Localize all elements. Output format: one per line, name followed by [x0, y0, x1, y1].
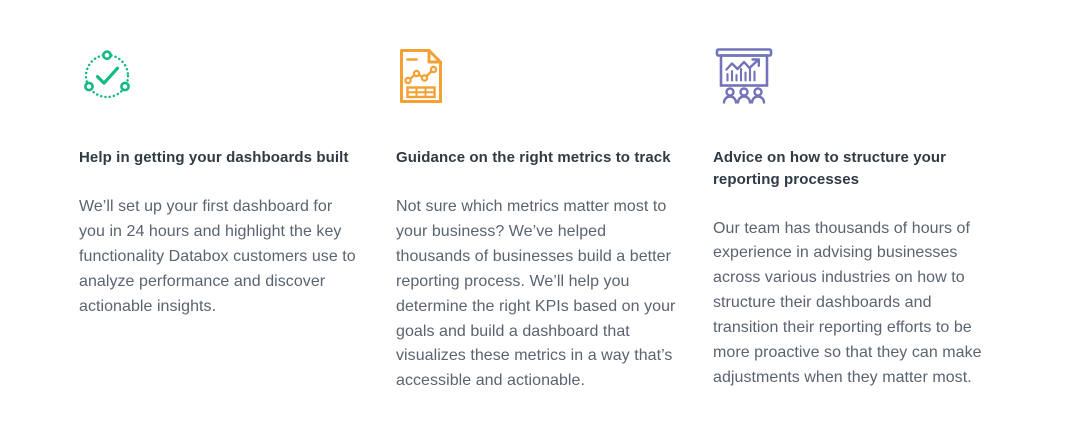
- feature-column-metrics-guidance: Guidance on the right metrics to track N…: [396, 45, 676, 394]
- check-circle-dotted-icon: [79, 45, 359, 107]
- feature-column-dashboards-built: Help in getting your dashboards built We…: [79, 45, 359, 320]
- feature-body: We’ll set up your first dashboard for yo…: [79, 195, 359, 320]
- feature-title: Advice on how to structure your reportin…: [713, 147, 993, 191]
- feature-column-reporting-structure: Advice on how to structure your reportin…: [713, 45, 993, 391]
- feature-title: Help in getting your dashboards built: [79, 147, 359, 169]
- report-document-chart-icon: [396, 45, 676, 107]
- feature-body: Our team has thousands of hours of exper…: [713, 217, 993, 392]
- features-grid: Help in getting your dashboards built We…: [0, 45, 1086, 394]
- onboarding-benefits-section: Help in getting your dashboards built We…: [0, 0, 1086, 436]
- presentation-board-audience-icon: [713, 45, 993, 107]
- feature-body: Not sure which metrics matter most to yo…: [396, 195, 676, 395]
- feature-title: Guidance on the right metrics to track: [396, 147, 676, 169]
